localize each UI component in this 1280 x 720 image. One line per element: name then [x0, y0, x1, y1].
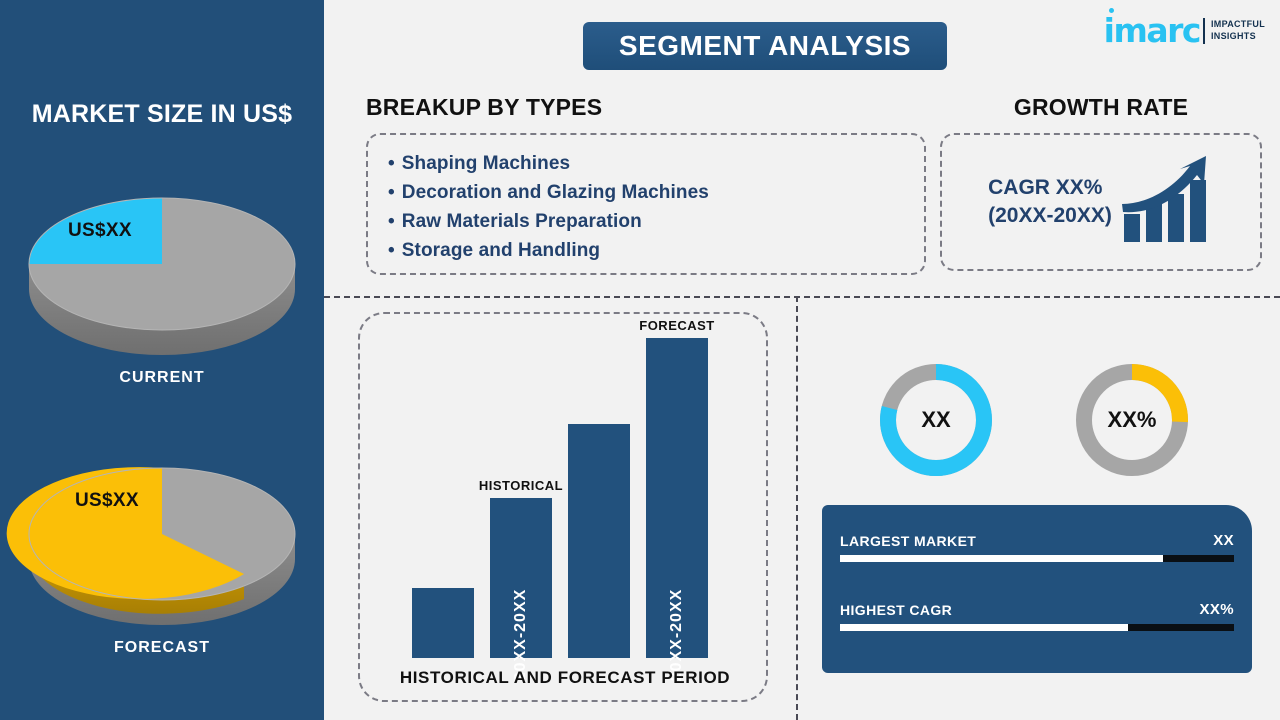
stat-progress-track [840, 624, 1234, 631]
stat-value: XX% [1199, 601, 1234, 618]
stat-row: HIGHEST CAGR XX% [840, 598, 1234, 631]
current-pie-chart: US$XX CURRENT [0, 160, 324, 387]
largest-market-donut-label: XX [876, 360, 996, 480]
stat-header: HIGHEST CAGR XX% [840, 598, 1234, 618]
type-list-item: •Decoration and Glazing Machines [388, 178, 924, 207]
stat-label: LARGEST MARKET [840, 533, 976, 549]
logo-tagline-line2: INSIGHTS [1211, 31, 1265, 42]
growth-arrow-icon [1118, 156, 1214, 248]
type-list-item: •Raw Materials Preparation [388, 207, 924, 236]
key-stats-panel: LARGEST MARKET XX HIGHEST CAGR XX% [822, 505, 1252, 673]
logo-tagline: IMPACTFUL INSIGHTS [1211, 19, 1265, 42]
sidebar-title: MARKET SIZE IN US$ [0, 100, 324, 129]
page-title-banner: SEGMENT ANALYSIS [583, 22, 947, 70]
bar-top-label: HISTORICAL [479, 478, 563, 493]
infographic-page: MARKET SIZE IN US$ [0, 0, 1280, 720]
type-list-item: •Storage and Handling [388, 236, 924, 265]
growth-rate-box: CAGR XX% (20XX-20XX) [940, 133, 1262, 271]
growth-heading: GROWTH RATE [940, 94, 1262, 121]
bullet-icon: • [388, 153, 395, 174]
stat-progress-fill [840, 624, 1128, 631]
page-title: SEGMENT ANALYSIS [619, 30, 911, 62]
highest-cagr-donut-label: XX% [1072, 360, 1192, 480]
horizontal-divider [324, 296, 1280, 298]
current-pie-caption: CURRENT [0, 369, 324, 387]
type-item-label: Storage and Handling [402, 240, 600, 261]
logo-tagline-line1: IMPACTFUL [1211, 19, 1265, 30]
stat-progress-fill [840, 555, 1163, 562]
stat-header: LARGEST MARKET XX [840, 529, 1234, 549]
forecast-pie-chart: US$XX FORECAST [0, 430, 324, 657]
current-pie-svg [0, 160, 324, 360]
logo-divider [1203, 18, 1205, 44]
forecast-pie-slice-label: US$XX [75, 490, 139, 512]
cagr-text: CAGR XX% (20XX-20XX) [988, 174, 1112, 230]
cagr-period: (20XX-20XX) [988, 202, 1112, 230]
bar-chart-bar: FORECAST 20XX-20XX [646, 338, 708, 658]
breakup-by-types-section: BREAKUP BY TYPES •Shaping Machines •Deco… [366, 94, 926, 275]
market-size-sidebar: MARKET SIZE IN US$ [0, 0, 324, 720]
bullet-icon: • [388, 240, 395, 261]
imarc-logo: imarc IMPACTFUL INSIGHTS [1104, 14, 1265, 47]
bar-chart-bar [568, 424, 630, 658]
type-item-label: Shaping Machines [402, 153, 570, 174]
types-heading: BREAKUP BY TYPES [366, 94, 926, 121]
type-item-label: Decoration and Glazing Machines [402, 182, 709, 203]
type-list-item: •Shaping Machines [388, 149, 924, 178]
bar-chart-bar [412, 588, 474, 658]
bullet-icon: • [388, 211, 395, 232]
forecast-pie-svg [0, 430, 324, 630]
largest-market-donut: XX [876, 360, 996, 485]
types-list-box: •Shaping Machines •Decoration and Glazin… [366, 133, 926, 275]
growth-rate-section: GROWTH RATE CAGR XX% (20XX-20XX) [940, 94, 1262, 271]
vertical-divider [796, 296, 798, 720]
cagr-value: CAGR XX% [988, 174, 1112, 202]
stat-value: XX [1213, 532, 1234, 549]
logo-wordmark: imarc [1104, 14, 1200, 47]
current-pie-slice-label: US$XX [68, 220, 132, 242]
historical-forecast-bar-chart: HISTORICAL 20XX-20XX FORECAST 20XX-20XX … [358, 312, 768, 702]
stat-label: HIGHEST CAGR [840, 602, 952, 618]
bar-chart-bar: HISTORICAL 20XX-20XX [490, 498, 552, 658]
type-item-label: Raw Materials Preparation [402, 211, 642, 232]
highest-cagr-donut: XX% [1072, 360, 1192, 485]
forecast-pie-caption: FORECAST [0, 639, 324, 657]
stat-progress-track [840, 555, 1234, 562]
logo-dot-icon [1109, 8, 1114, 13]
page-header: SEGMENT ANALYSIS imarc IMPACTFUL INSIGHT… [324, 0, 1280, 92]
stat-row: LARGEST MARKET XX [840, 529, 1234, 562]
bullet-icon: • [388, 182, 395, 203]
bar-top-label: FORECAST [639, 318, 715, 333]
bar-chart-bars: HISTORICAL 20XX-20XX FORECAST 20XX-20XX [360, 338, 770, 658]
bar-chart-caption: HISTORICAL AND FORECAST PERIOD [360, 668, 770, 688]
